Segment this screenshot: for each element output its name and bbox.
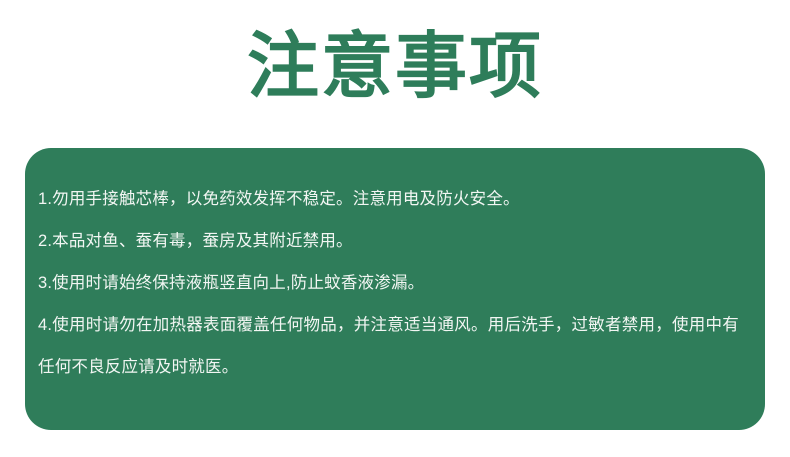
page-title: 注意事项 <box>0 24 790 110</box>
list-item: 3.使用时请始终保持液瓶竖直向上,防止蚊香液渗漏。 <box>38 262 739 304</box>
list-item: 1.勿用手接触芯棒，以免药效发挥不稳定。注意用电及防火安全。 <box>38 178 739 220</box>
list-item: 4.使用时请勿在加热器表面覆盖任何物品，并注意适当通风。用后洗手，过敏者禁用，使… <box>38 304 739 388</box>
product-notice-page: 注意事项 1.勿用手接触芯棒，以免药效发挥不稳定。注意用电及防火安全。 2.本品… <box>0 0 790 457</box>
notice-list: 1.勿用手接触芯棒，以免药效发挥不稳定。注意用电及防火安全。 2.本品对鱼、蚕有… <box>38 178 739 388</box>
list-item: 2.本品对鱼、蚕有毒，蚕房及其附近禁用。 <box>38 220 739 262</box>
notice-panel: 1.勿用手接触芯棒，以免药效发挥不稳定。注意用电及防火安全。 2.本品对鱼、蚕有… <box>25 148 765 430</box>
